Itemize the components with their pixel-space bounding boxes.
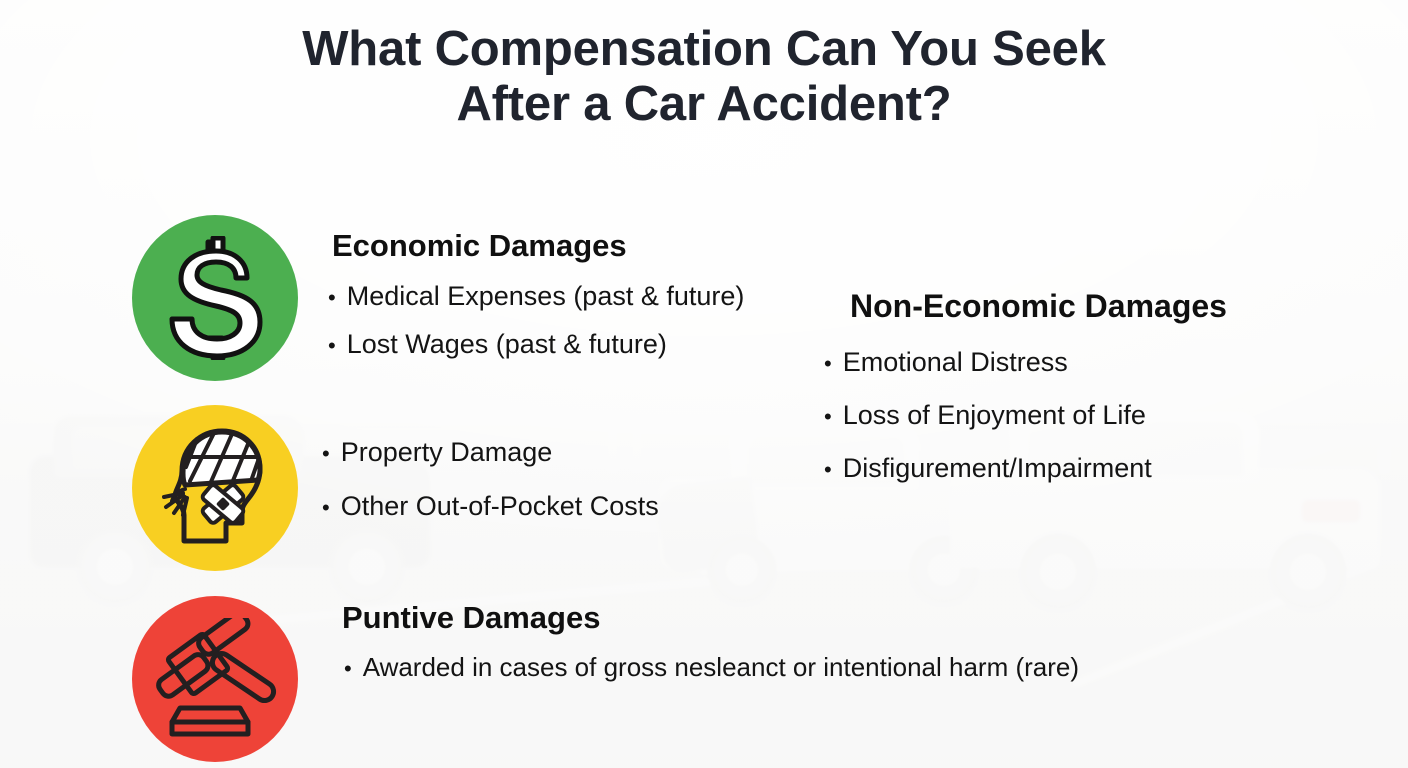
- list-item-label: Loss of Enjoyment of Life: [843, 400, 1146, 431]
- bullet-icon: •: [328, 335, 336, 357]
- economic-damages-heading: Economic Damages: [332, 228, 744, 264]
- non-economic-damages-block: Non-Economic Damages • Emotional Distres…: [824, 288, 1227, 484]
- punitive-damages-block: Puntive Damages • Awarded in cases of gr…: [342, 600, 1079, 683]
- list-item-label: Property Damage: [341, 437, 553, 468]
- list-item: • Disfigurement/Impairment: [824, 453, 1227, 484]
- gavel-icon: [132, 596, 298, 762]
- non-economic-damages-heading: Non-Economic Damages: [850, 288, 1227, 325]
- punitive-damages-heading: Puntive Damages: [342, 600, 1079, 636]
- bullet-icon: •: [328, 287, 336, 309]
- bullet-icon: •: [824, 459, 832, 481]
- list-item-label: Medical Expenses (past & future): [347, 281, 745, 312]
- punitive-damages-list: • Awarded in cases of gross nesleanct or…: [342, 652, 1079, 683]
- bullet-icon: •: [322, 497, 330, 519]
- bullet-icon: •: [824, 406, 832, 428]
- list-item-label: Disfigurement/Impairment: [843, 453, 1152, 484]
- bandaged-head-icon: [132, 405, 298, 571]
- infographic-canvas: What Compensation Can You Seek After a C…: [0, 0, 1408, 768]
- list-item: • Medical Expenses (past & future): [328, 281, 744, 312]
- list-item-label: Awarded in cases of gross nesleanct or i…: [363, 652, 1079, 683]
- page-title-line-2: After a Car Accident?: [0, 77, 1408, 132]
- list-item: • Loss of Enjoyment of Life: [824, 400, 1227, 431]
- list-item-label: Lost Wages (past & future): [347, 329, 667, 360]
- economic-damages-block: Economic Damages • Medical Expenses (pas…: [328, 228, 744, 360]
- list-item: • Property Damage: [322, 437, 659, 468]
- bullet-icon: •: [322, 443, 330, 465]
- bullet-icon: •: [824, 353, 832, 375]
- dollar-sign-icon: [132, 215, 298, 381]
- list-item: • Lost Wages (past & future): [328, 329, 744, 360]
- property-damage-list: • Property Damage • Other Out-of-Pocket …: [322, 437, 659, 522]
- page-title-line-1: What Compensation Can You Seek: [0, 22, 1408, 77]
- bullet-icon: •: [344, 658, 352, 680]
- non-economic-damages-list: • Emotional Distress • Loss of Enjoyment…: [824, 347, 1227, 484]
- page-title: What Compensation Can You Seek After a C…: [0, 22, 1408, 132]
- property-damage-block: • Property Damage • Other Out-of-Pocket …: [322, 437, 659, 522]
- list-item: • Emotional Distress: [824, 347, 1227, 378]
- list-item-label: Other Out-of-Pocket Costs: [341, 491, 659, 522]
- list-item: • Awarded in cases of gross nesleanct or…: [344, 652, 1079, 683]
- list-item-label: Emotional Distress: [843, 347, 1068, 378]
- list-item: • Other Out-of-Pocket Costs: [322, 491, 659, 522]
- economic-damages-list: • Medical Expenses (past & future) • Los…: [328, 281, 744, 360]
